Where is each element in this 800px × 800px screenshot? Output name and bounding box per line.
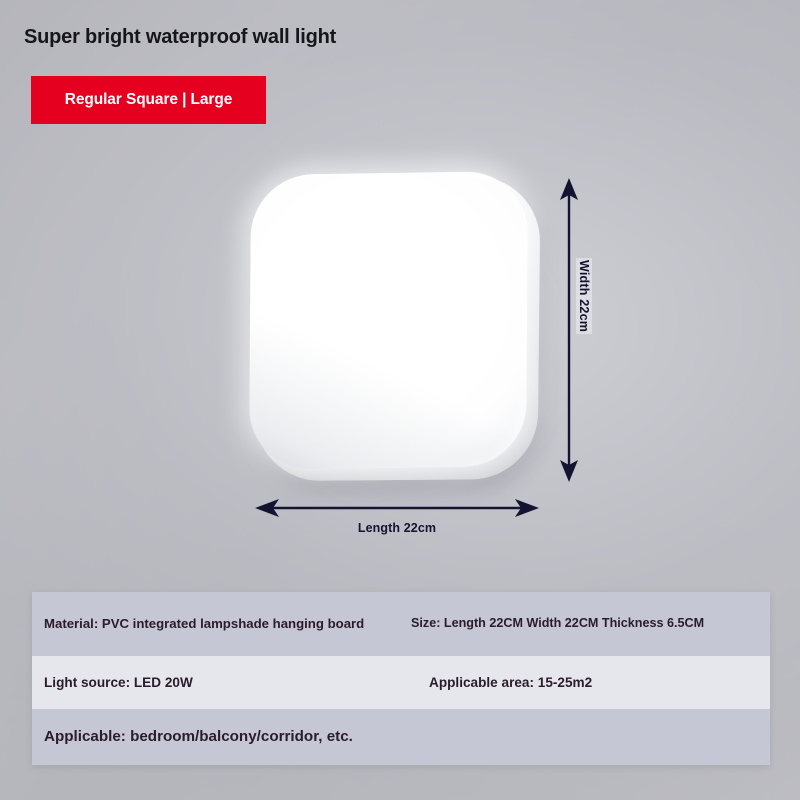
table-row: Applicable: bedroom/balcony/corridor, et…: [32, 709, 770, 765]
table-row: Material: PVC integrated lampshade hangi…: [32, 592, 770, 656]
variant-badge-label: Regular Square | Large: [65, 91, 233, 109]
spec-applicable-area: Applicable area: 15-25m2: [377, 674, 770, 691]
product-listing-image: Super bright waterproof wall light Regul…: [0, 0, 800, 800]
width-dimension-label: Width 22cm: [576, 258, 592, 334]
double-arrow-horizontal-icon: [255, 492, 539, 524]
table-row: Light source: LED 20W Applicable area: 1…: [32, 656, 770, 709]
spec-light-source: Light source: LED 20W: [32, 674, 377, 691]
page-title: Super bright waterproof wall light: [24, 26, 336, 49]
specification-table: Material: PVC integrated lampshade hangi…: [32, 592, 770, 765]
product-photo: [243, 163, 543, 483]
variant-badge[interactable]: Regular Square | Large: [31, 76, 266, 124]
length-dimension-label: Length 22cm: [255, 521, 539, 535]
lamp-diffuser-edge-shading: [249, 171, 528, 470]
spec-applicable-rooms: Applicable: bedroom/balcony/corridor, et…: [32, 727, 770, 746]
spec-size: Size: Length 22CM Width 22CM Thickness 6…: [377, 616, 770, 632]
spec-material: Material: PVC integrated lampshade hangi…: [32, 616, 377, 633]
length-dimension-arrow: [255, 492, 539, 524]
